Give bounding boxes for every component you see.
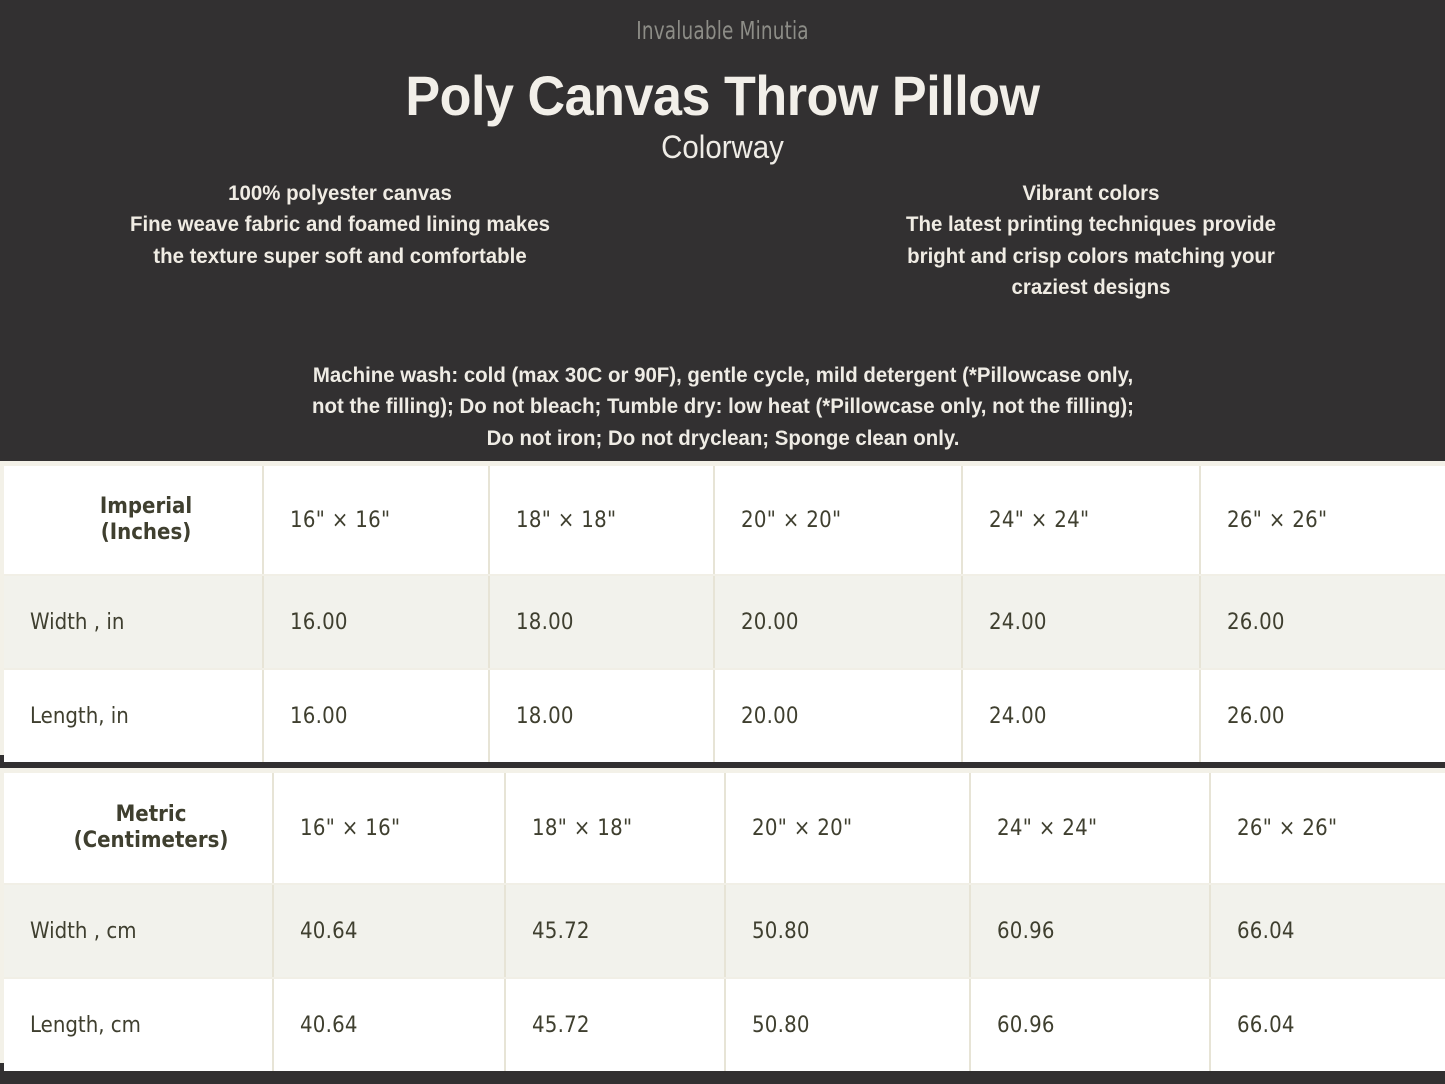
measurement-value: 60.96 [970,884,1210,978]
measurement-value: 24.00 [962,575,1200,669]
measurement-value: 50.80 [725,978,970,1071]
size-header-cell: 20" × 20" [725,773,970,884]
table-row: Width , in 16.00 18.00 20.00 24.00 26.00 [4,575,1445,669]
imperial-table-container: Imperial (Inches) 16" × 16" 18" × 18" 20… [0,461,1445,755]
feature-line: The latest printing techniques provide [825,209,1357,240]
measurement-value: 66.04 [1210,884,1445,978]
size-header-cell: 16" × 16" [263,466,489,575]
row-label: Length, cm [4,978,273,1071]
table-row: Imperial (Inches) 16" × 16" 18" × 18" 20… [4,466,1445,575]
row-label: Width , in [4,575,263,669]
row-label: Length, in [4,669,263,762]
feature-line: bright and crisp colors matching your [825,241,1357,272]
measurement-value: 50.80 [725,884,970,978]
measurement-value: 16.00 [263,575,489,669]
unit-system-title: Metric (Centimeters) [4,773,273,884]
size-chart-page: Invaluable Minutia Poly Canvas Throw Pil… [0,0,1445,1084]
measurement-value: 66.04 [1210,978,1445,1071]
unit-system-title: Imperial (Inches) [4,466,263,575]
product-header: Invaluable Minutia Poly Canvas Throw Pil… [0,0,1445,461]
row-label: Width , cm [4,884,273,978]
table-row: Length, cm 40.64 45.72 50.80 60.96 66.04 [4,978,1445,1071]
measurement-value: 40.64 [273,884,505,978]
feature-line: the texture super soft and comfortable [74,241,606,272]
table-row: Width , cm 40.64 45.72 50.80 60.96 66.04 [4,884,1445,978]
measurement-value: 40.64 [273,978,505,1071]
size-header-cell: 20" × 20" [714,466,962,575]
feature-line: Fine weave fabric and foamed lining make… [74,209,606,240]
size-header-cell: 18" × 18" [505,773,725,884]
unit-title-line2: (Inches) [101,520,192,545]
feature-line: 100% polyester canvas [74,178,606,209]
size-header-cell: 16" × 16" [273,773,505,884]
measurement-value: 20.00 [714,575,962,669]
measurement-value: 26.00 [1200,669,1445,762]
metric-size-table: Metric (Centimeters) 16" × 16" 18" × 18"… [4,773,1445,1071]
feature-blocks: 100% polyester canvas Fine weave fabric … [0,178,1445,304]
size-header-cell: 26" × 26" [1210,773,1445,884]
metric-table-container: Metric (Centimeters) 16" × 16" 18" × 18"… [0,768,1445,1063]
brand-name: Invaluable Minutia [130,18,1315,43]
measurement-value: 24.00 [962,669,1200,762]
feature-block-colors: Vibrant colors The latest printing techn… [825,178,1357,304]
feature-block-material: 100% polyester canvas Fine weave fabric … [74,178,606,304]
measurement-value: 60.96 [970,978,1210,1071]
measurement-value: 45.72 [505,884,725,978]
measurement-value: 20.00 [714,669,962,762]
measurement-value: 18.00 [489,575,714,669]
table-row: Length, in 16.00 18.00 20.00 24.00 26.00 [4,669,1445,762]
page-title: Poly Canvas Throw Pillow [51,67,1395,126]
measurement-value: 18.00 [489,669,714,762]
unit-title-line1: Imperial [100,494,192,519]
measurement-value: 26.00 [1200,575,1445,669]
imperial-size-table: Imperial (Inches) 16" × 16" 18" × 18" 20… [4,466,1445,762]
feature-line: Vibrant colors [825,178,1357,209]
table-row: Metric (Centimeters) 16" × 16" 18" × 18"… [4,773,1445,884]
measurement-value: 45.72 [505,978,725,1071]
care-instructions: Machine wash: cold (max 30C or 90F), gen… [305,360,1141,454]
product-subtitle: Colorway [58,130,1387,165]
unit-title-line1: Metric [116,802,187,827]
unit-title-line2: (Centimeters) [74,828,229,853]
measurement-value: 16.00 [263,669,489,762]
size-header-cell: 18" × 18" [489,466,714,575]
size-header-cell: 24" × 24" [962,466,1200,575]
size-header-cell: 24" × 24" [970,773,1210,884]
feature-line: craziest designs [825,272,1357,303]
size-header-cell: 26" × 26" [1200,466,1445,575]
